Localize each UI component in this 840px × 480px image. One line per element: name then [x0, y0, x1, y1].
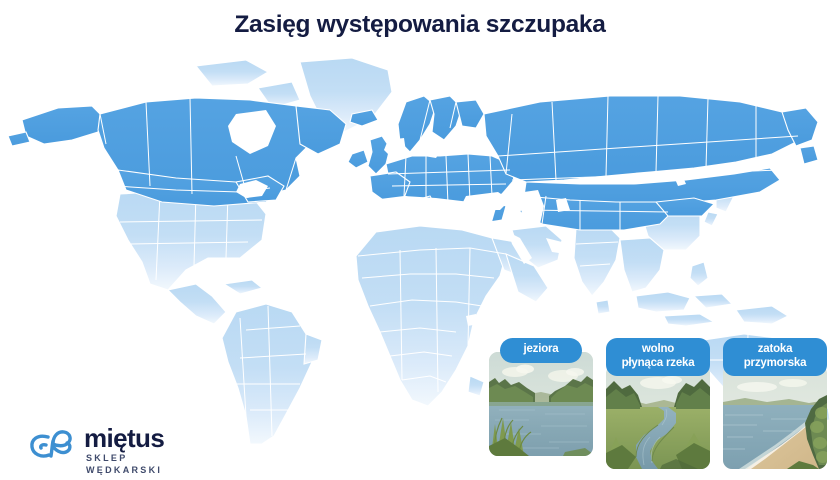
- fish-leaf-mark: [29, 426, 77, 466]
- habitat-cards: jeziora: [489, 338, 837, 480]
- habitat-card-wolno-plynaca-rzeka[interactable]: wolno płynąca rzeka: [606, 338, 710, 469]
- habitat-badge-jeziora: jeziora: [500, 338, 582, 363]
- habitat-badge-zatoka-przymorska: zatoka przymorska: [723, 338, 827, 376]
- slow-river-illustration: [606, 365, 710, 469]
- habitat-card-zatoka-przymorska[interactable]: zatoka przymorska: [723, 338, 827, 469]
- habitat-card-jeziora[interactable]: jeziora: [489, 338, 593, 456]
- logo-tagline: SKLEP WĘDKARSKI: [86, 452, 204, 476]
- lake-illustration: [489, 352, 593, 456]
- logo-wordmark: miętus: [84, 423, 164, 453]
- coastal-bay-illustration: [723, 365, 827, 469]
- habitat-badge-wolno-plynaca-rzeka: wolno płynąca rzeka: [606, 338, 710, 376]
- page-title: Zasięg występowania szczupaka: [0, 11, 840, 39]
- mietus-logo[interactable]: miętus SKLEP WĘDKARSKI: [29, 421, 204, 471]
- infographic-root: Zasięg występowania szczupaka: [0, 0, 840, 480]
